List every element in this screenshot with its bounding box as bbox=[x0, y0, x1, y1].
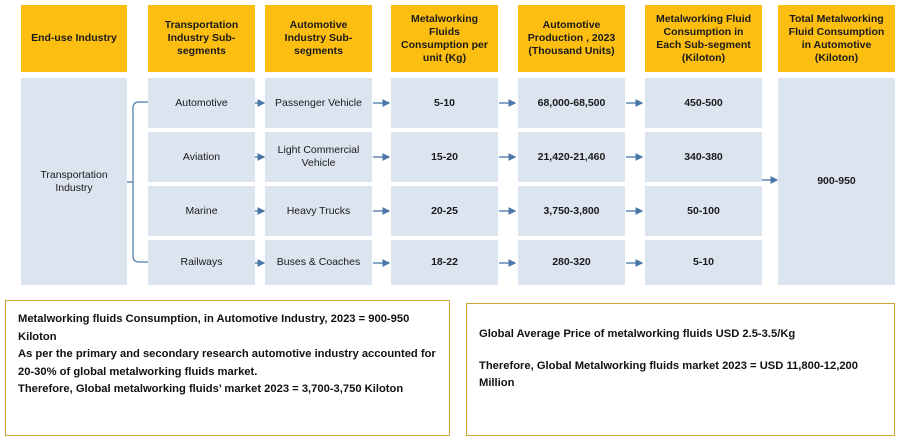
cell-consumption-per-unit-row4: 18-22 bbox=[391, 240, 498, 285]
cell-value: 18-22 bbox=[431, 256, 458, 269]
cell-value: Passenger Vehicle bbox=[275, 97, 362, 110]
note-left-line3-bold: 3,700-3,750 Kiloton bbox=[302, 383, 403, 395]
cell-end-use-industry: Transportation Industry bbox=[21, 78, 127, 285]
cell-consumption-per-unit-row3: 20-25 bbox=[391, 186, 498, 236]
cell-value: 21,420-21,460 bbox=[538, 151, 606, 164]
column-header-label: Metalworking Fluids Consumption per unit… bbox=[396, 13, 493, 65]
cell-value: 20-25 bbox=[431, 205, 458, 218]
cell-value: Automotive bbox=[175, 97, 228, 110]
cell-transportation-subsegment-railways: Railways bbox=[148, 240, 255, 285]
cell-automotive-production-row3: 3,750-3,800 bbox=[518, 186, 625, 236]
note-right-line2-prefix: Therefore, Global Metalworking fluids ma… bbox=[479, 360, 760, 372]
cell-value: 900-950 bbox=[817, 175, 856, 188]
column-header-label: Transportation Industry Sub-segments bbox=[153, 19, 250, 58]
cell-consumption-each-subsegment-row1: 450-500 bbox=[645, 78, 762, 128]
arrow-group-automotive-to-consumption bbox=[372, 78, 392, 285]
column-header-transportation-subsegments: Transportation Industry Sub-segments bbox=[148, 5, 255, 72]
cell-value: 5-10 bbox=[434, 97, 455, 110]
cell-transportation-subsegment-aviation: Aviation bbox=[148, 132, 255, 182]
note-box-right: Global Average Price of metalworking flu… bbox=[466, 303, 895, 436]
column-header-label: Automotive Industry Sub-segments bbox=[270, 19, 367, 58]
cell-value: 50-100 bbox=[687, 205, 720, 218]
cell-automotive-subsegment-heavy-trucks: Heavy Trucks bbox=[265, 186, 372, 236]
note-left-line1: Metalworking fluids Consumption, in Auto… bbox=[18, 311, 437, 346]
cell-value: 68,000-68,500 bbox=[538, 97, 606, 110]
arrow-group-consumption-to-production bbox=[498, 78, 518, 285]
cell-automotive-subsegment-buses-coaches: Buses & Coaches bbox=[265, 240, 372, 285]
cell-transportation-subsegment-automotive: Automotive bbox=[148, 78, 255, 128]
column-header-automotive-subsegments: Automotive Industry Sub-segments bbox=[265, 5, 372, 72]
cell-consumption-each-subsegment-row4: 5-10 bbox=[645, 240, 762, 285]
cell-value: Marine bbox=[185, 205, 217, 218]
cell-value: 5-10 bbox=[693, 256, 714, 269]
cell-value: Buses & Coaches bbox=[277, 256, 360, 269]
cell-value: Light Commercial Vehicle bbox=[269, 144, 368, 170]
column-header-label: End-use Industry bbox=[31, 32, 117, 45]
column-header-automotive-production: Automotive Production , 2023 (Thousand U… bbox=[518, 5, 625, 72]
cell-value: 280-320 bbox=[552, 256, 591, 269]
note-left-line2: As per the primary and secondary researc… bbox=[18, 346, 437, 381]
column-header-label: Metalworking Fluid Consumption in Each S… bbox=[650, 13, 757, 65]
note-box-left: Metalworking fluids Consumption, in Auto… bbox=[5, 300, 450, 436]
cell-value: 450-500 bbox=[684, 97, 723, 110]
cell-value: Transportation Industry bbox=[25, 169, 123, 195]
cell-automotive-production-row2: 21,420-21,460 bbox=[518, 132, 625, 182]
column-header-consumption-per-unit: Metalworking Fluids Consumption per unit… bbox=[391, 5, 498, 72]
note-right-spacer bbox=[479, 344, 882, 358]
cell-value: Railways bbox=[180, 256, 222, 269]
cell-transportation-subsegment-marine: Marine bbox=[148, 186, 255, 236]
arrow-group-production-to-subsegment-consumption bbox=[625, 78, 645, 285]
cell-consumption-each-subsegment-row3: 50-100 bbox=[645, 186, 762, 236]
cell-value: 340-380 bbox=[684, 151, 723, 164]
cell-automotive-production-row4: 280-320 bbox=[518, 240, 625, 285]
note-left-line3-prefix: Therefore, Global metalworking fluids’ m… bbox=[18, 383, 302, 395]
column-header-label: Automotive Production , 2023 (Thousand U… bbox=[523, 19, 620, 58]
column-header-consumption-each-subsegment: Metalworking Fluid Consumption in Each S… bbox=[645, 5, 762, 72]
cell-automotive-production-row1: 68,000-68,500 bbox=[518, 78, 625, 128]
note-right-line2: Therefore, Global Metalworking fluids ma… bbox=[479, 358, 882, 393]
diagram-canvas: End-use Industry Transportation Industry… bbox=[0, 0, 900, 442]
note-left-line3: Therefore, Global metalworking fluids’ m… bbox=[18, 381, 437, 399]
cell-value: 15-20 bbox=[431, 151, 458, 164]
cell-value: 3,750-3,800 bbox=[543, 205, 599, 218]
note-right-line1: Global Average Price of metalworking flu… bbox=[479, 326, 882, 344]
cell-consumption-each-subsegment-row2: 340-380 bbox=[645, 132, 762, 182]
cell-consumption-per-unit-row2: 15-20 bbox=[391, 132, 498, 182]
cell-automotive-subsegment-light-commercial-vehicle: Light Commercial Vehicle bbox=[265, 132, 372, 182]
cell-automotive-subsegment-passenger-vehicle: Passenger Vehicle bbox=[265, 78, 372, 128]
cell-value: Heavy Trucks bbox=[287, 205, 351, 218]
cell-value: Aviation bbox=[183, 151, 220, 164]
column-header-label: Total Metalworking Fluid Consumption in … bbox=[783, 13, 890, 65]
cell-consumption-per-unit-row1: 5-10 bbox=[391, 78, 498, 128]
cell-total-consumption: 900-950 bbox=[778, 78, 895, 285]
column-header-end-use-industry: End-use Industry bbox=[21, 5, 127, 72]
column-header-total-consumption: Total Metalworking Fluid Consumption in … bbox=[778, 5, 895, 72]
